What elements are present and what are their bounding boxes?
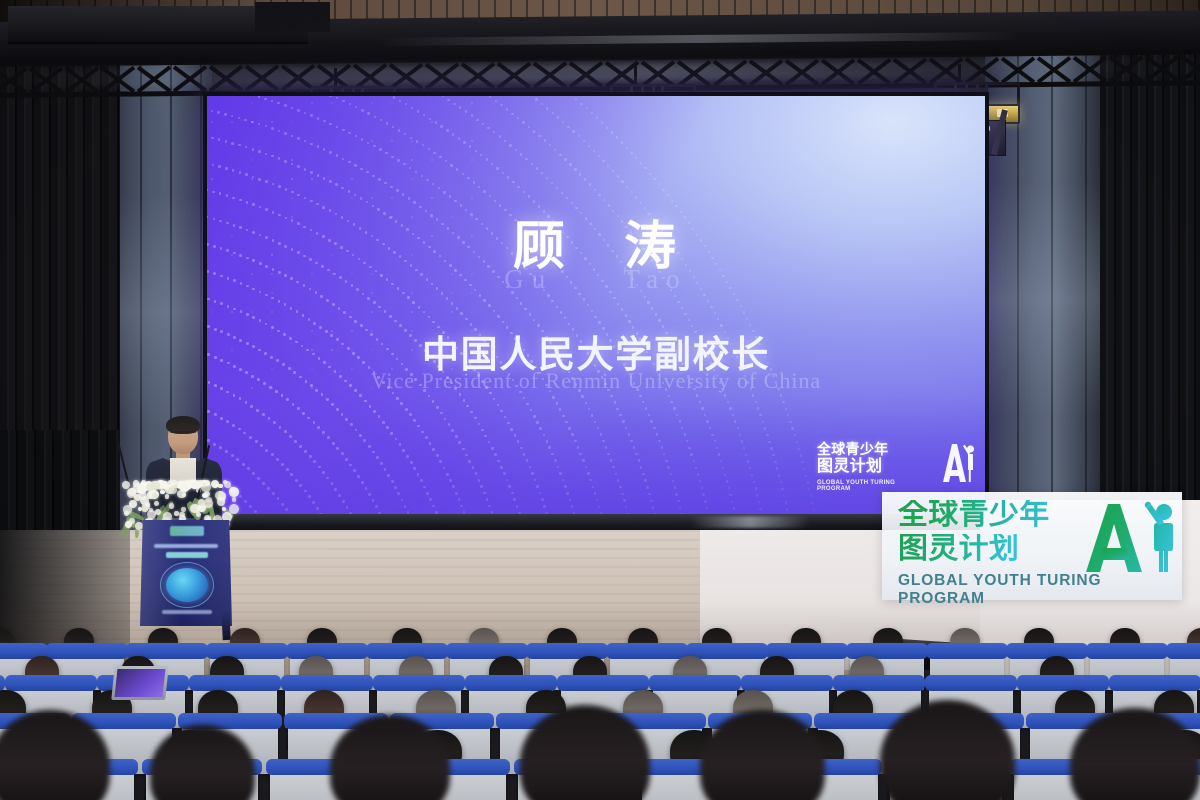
truss-brace [1178,53,1200,81]
flower-blossom [154,501,159,506]
screen-bezel [203,92,989,518]
lectern [140,520,232,626]
truss-brace [1034,55,1070,83]
flower-blossom [198,480,203,485]
flower-blossom [213,483,218,488]
truss-brace [206,63,242,91]
truss-brace [1070,54,1106,82]
truss-brace [890,56,926,84]
flower-blossom [217,497,225,505]
truss-brace [62,65,98,93]
program-logo-large: 全球青少年 图灵计划 GLOBAL YOUTH TURING PROGRAM [898,500,1178,592]
flower-blossom [123,505,132,514]
flower-blossom [141,488,146,493]
conference-stage-photo: 顾涛 GuTao 中国人民大学副校长 Vice President of Ren… [0,0,1200,800]
truss-brace [242,63,278,91]
truss-brace [530,60,566,88]
lectern-top-logo [170,526,204,536]
speaker-glasses-icon [170,431,196,439]
flower-blossom [182,493,186,497]
truss-brace [854,57,890,85]
lectern-text-line-3 [162,610,212,614]
flower-blossom [229,487,239,497]
flower-blossom [191,482,198,489]
ai-lambda-child-mark-icon-large [1080,498,1182,576]
light-hanger-icon [958,64,961,84]
flower-blossom [181,507,185,511]
flower-blossom [224,481,231,488]
flower-blossom [206,497,212,503]
truss-brace [710,58,746,86]
lectern-text-line-1 [154,544,218,548]
truss-brace [134,64,170,92]
globe-emblem-icon [166,568,208,602]
light-hanger-icon [334,68,337,88]
flower-blossom [218,484,222,488]
audience-seating [0,620,1200,800]
lectern-text-line-2 [166,552,208,558]
flower-blossom [139,492,147,500]
screen-base-highlight [690,516,810,528]
truss-brace [26,65,62,93]
truss-brace [746,58,782,86]
flower-blossom [125,521,132,528]
truss-brace [818,57,854,85]
logo-cn-line1: 全球青少年 [898,500,1050,530]
flower-blossom [222,507,226,511]
flower-blossom [169,503,175,509]
truss-brace [782,57,818,85]
truss-brace [422,61,458,89]
truss-brace [170,64,206,92]
flower-blossom [160,490,164,494]
ceiling-speaker-box [255,2,330,32]
truss-brace [494,60,530,88]
flower-blossom [169,486,177,494]
flower-blossom [232,497,237,502]
flower-blossom [165,494,170,499]
flower-blossom [135,522,143,530]
truss-brace [1106,54,1142,82]
truss-brace [458,61,494,89]
logo-cn-line2: 图灵计划 [898,534,1019,564]
flower-blossom [198,499,205,506]
truss-brace [0,66,26,94]
truss-brace [98,64,134,92]
truss-brace [566,60,602,88]
logo-en-line: GLOBAL YOUTH TURING PROGRAM [898,572,1176,608]
flower-blossom [205,481,210,486]
light-hanger-icon [634,66,637,86]
flower-blossom [162,481,167,486]
truss-brace [1142,54,1178,82]
